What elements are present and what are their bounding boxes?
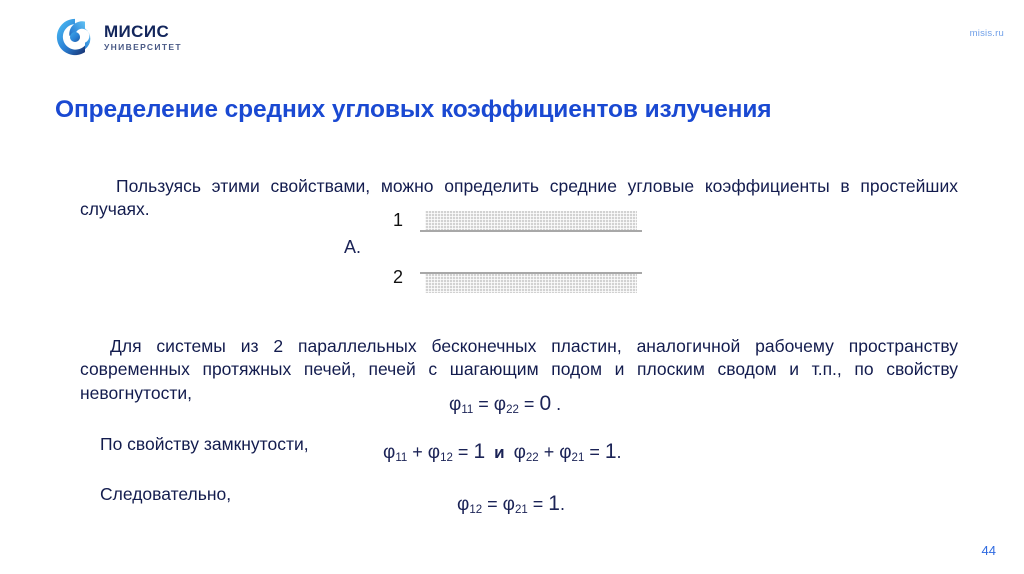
equals-sign: = [584, 442, 605, 462]
slide-canvas: МИСИС УНИВЕРСИТЕТ misis.ru Определение с… [0, 0, 1024, 574]
phi-symbol: φ [449, 394, 461, 415]
phi-symbol: φ [428, 442, 440, 463]
formula-period: . [560, 494, 565, 514]
phi-subscript: 22 [506, 404, 519, 416]
label-therefore: Следовательно, [100, 483, 231, 507]
brand-wordmark: МИСИС УНИВЕРСИТЕТ [104, 23, 182, 52]
misis-circular-logo-icon [55, 17, 95, 57]
label-closure-property: По свойству замкнутости, [100, 433, 309, 457]
formula-result: φ12 = φ21 = 1. [457, 492, 565, 516]
phi-symbol: φ [514, 442, 526, 463]
formula-value: 1 [548, 492, 560, 515]
plus-sign: + [407, 442, 428, 462]
phi-symbol: φ [457, 494, 469, 515]
page-number: 44 [982, 543, 996, 558]
equals-sign: = [473, 394, 494, 414]
phi-subscript: 21 [515, 504, 528, 516]
page-title: Определение средних угловых коэффициенто… [55, 96, 955, 124]
brand-logo[interactable]: МИСИС УНИВЕРСИТЕТ [55, 17, 182, 57]
site-url-link[interactable]: misis.ru [970, 28, 1004, 39]
phi-subscript: 12 [469, 504, 482, 516]
equals-sign: = [528, 494, 549, 514]
phi-subscript: 12 [440, 452, 453, 464]
plate-1-surface [425, 211, 637, 232]
equals-sign: = [482, 494, 503, 514]
phi-symbol: φ [494, 394, 506, 415]
phi-subscript: 11 [461, 404, 473, 416]
conjunction-and: и [485, 443, 513, 462]
equals-sign: = [453, 442, 474, 462]
formula-closure: φ11 + φ12 = 1иφ22 + φ21 = 1. [383, 440, 622, 464]
plate-1-edge-line [420, 230, 642, 232]
plate-2-label: 2 [393, 267, 403, 288]
brand-name: МИСИС [104, 23, 182, 40]
plate-1-label: 1 [393, 210, 403, 231]
formula-noncavity: φ11 = φ22 = 0 . [449, 392, 561, 416]
formula-value: 1 [605, 440, 617, 463]
phi-symbol: φ [383, 442, 395, 463]
phi-subscript: 21 [572, 452, 585, 464]
phi-symbol: φ [503, 494, 515, 515]
phi-symbol: φ [559, 442, 571, 463]
equals-sign: = [519, 394, 540, 414]
diagram-case-label: А. [344, 237, 361, 258]
plate-2-surface [425, 274, 637, 293]
formula-value: 0 [539, 392, 551, 415]
formula-period: . [617, 442, 622, 462]
plus-sign: + [539, 442, 560, 462]
formula-period: . [551, 394, 561, 414]
phi-subscript: 22 [526, 452, 539, 464]
brand-subtitle: УНИВЕРСИТЕТ [104, 43, 182, 52]
phi-subscript: 11 [395, 452, 407, 464]
formula-value: 1 [473, 440, 485, 463]
